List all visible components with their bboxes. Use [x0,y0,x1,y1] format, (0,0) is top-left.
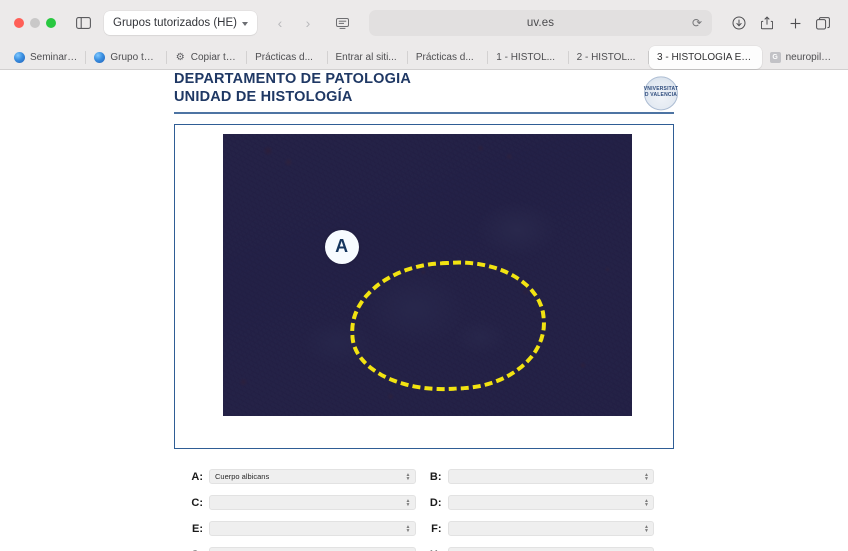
browser-tab[interactable]: ⎆ Prácticas d... [408,46,488,69]
chrome-favicon-icon [94,52,105,63]
answer-select-c[interactable]: ▲▼ [209,495,416,510]
toolbar-right-icons [726,12,838,34]
downloads-icon[interactable] [726,12,752,34]
answer-label-b: B: [429,471,442,483]
tab-label: 1 - HISTOL... [496,52,555,63]
figure-frame: A [174,124,674,449]
reader-view-icon[interactable] [329,12,355,34]
answer-label-f: F: [429,523,442,535]
answer-row-h: H: ▲▼ [429,547,655,551]
micrograph-image: A [223,134,632,416]
answer-select-a[interactable]: Cuerpo albicans ▲▼ [209,469,416,484]
tab-label: Entrar al siti... [336,52,397,63]
answer-row-c: C: ▲▼ [190,495,416,510]
browser-tab[interactable]: ⎆ Entrar al siti... [328,46,408,69]
answer-row-f: F: ▲▼ [429,521,655,536]
answer-row-d: D: ▲▼ [429,495,655,510]
stepper-icon[interactable]: ▲▼ [406,525,411,533]
answer-select-d[interactable]: ▲▼ [448,495,655,510]
university-logo: VNIVERSITAT D VALENCIA [638,72,684,112]
square-favicon-icon: G [770,52,781,63]
close-window-button[interactable] [14,18,24,28]
document-body: DEPARTAMENTO DE PATOLOGÍA UNIDAD DE HIST… [174,70,674,551]
stepper-icon[interactable]: ▲▼ [406,499,411,507]
stepper-icon[interactable]: ▲▼ [406,473,411,481]
department-title: DEPARTAMENTO DE PATOLOGÍA [174,72,674,85]
back-button[interactable]: ‹ [267,11,293,35]
chevron-down-icon [242,22,248,26]
page-content: DEPARTAMENTO DE PATOLOGÍA UNIDAD DE HIST… [0,70,848,551]
browser-tab-active[interactable]: ⎆ 3 - HISTOLOGÍA ESP... [649,46,762,69]
answers-form: A: Cuerpo albicans ▲▼ B: ▲▼ C: ▲▼ [174,469,674,551]
tab-label: neuropilo -... [786,52,834,63]
url-text: uv.es [527,17,554,29]
sidebar-toggle-icon[interactable] [70,12,96,34]
stepper-icon[interactable]: ▲▼ [644,499,649,507]
profile-group-label: Grupos tutorizados (HE) [113,17,237,29]
tab-overview-icon[interactable] [810,12,836,34]
answer-label-d: D: [429,497,442,509]
reload-icon[interactable]: ⟳ [692,17,702,29]
tab-strip: Seminarios... Grupo tutori... ⚙ Copiar t… [0,46,848,69]
forward-button[interactable]: › [295,11,321,35]
share-icon[interactable] [754,12,780,34]
browser-tab[interactable]: G neuropilo -... [762,46,842,69]
stepper-icon[interactable]: ▲▼ [644,473,649,481]
answer-select-f[interactable]: ▲▼ [448,521,655,536]
browser-tab[interactable]: Grupo tutori... [86,46,166,69]
answer-label-a: A: [190,471,203,483]
answer-select-h[interactable]: ▲▼ [448,547,655,551]
chrome-favicon-icon [14,52,25,63]
minimize-window-button[interactable] [30,18,40,28]
gear-favicon-icon: ⚙ [175,52,186,63]
tab-label: Prácticas d... [255,52,313,63]
profile-group-button[interactable]: Grupos tutorizados (HE) [104,11,257,35]
label-marker-a: A [325,230,359,264]
tab-label: Grupo tutori... [110,52,158,63]
answer-select-g[interactable]: ▲▼ [209,547,416,551]
answer-value-a: Cuerpo albicans [215,472,269,481]
browser-tab[interactable]: ⎆ Prácticas d... [247,46,327,69]
navigation-buttons[interactable]: ‹ › [267,11,321,35]
unit-title: UNIDAD DE HISTOLOGÍA [174,88,674,106]
browser-tab[interactable]: Seminarios... [6,46,86,69]
zoom-window-button[interactable] [46,18,56,28]
document-header: DEPARTAMENTO DE PATOLOGÍA UNIDAD DE HIST… [174,70,674,106]
tab-label: Seminarios... [30,52,78,63]
new-tab-button[interactable] [782,12,808,34]
answer-row-g: G: ▲▼ [190,547,416,551]
browser-chrome: Grupos tutorizados (HE) ‹ › uv.es ⟳ [0,0,848,70]
answer-row-e: E: ▲▼ [190,521,416,536]
answer-select-e[interactable]: ▲▼ [209,521,416,536]
header-divider [174,112,674,114]
tab-label: 3 - HISTOLOGÍA ESP... [657,52,754,63]
answer-label-c: C: [190,497,203,509]
browser-titlebar: Grupos tutorizados (HE) ‹ › uv.es ⟳ [0,0,848,46]
answer-select-b[interactable]: ▲▼ [448,469,655,484]
answer-label-e: E: [190,523,203,535]
browser-tab[interactable]: ⚙ Copiar texto... [167,46,247,69]
tab-label: Copiar texto... [191,52,239,63]
tab-label: Prácticas d... [416,52,474,63]
browser-tab[interactable]: ⎆ 2 - HISTOL... [569,46,649,69]
answer-row-b: B: ▲▼ [429,469,655,484]
answer-row-a: A: Cuerpo albicans ▲▼ [190,469,416,484]
address-bar[interactable]: uv.es ⟳ [369,10,712,36]
tab-label: 2 - HISTOL... [577,52,636,63]
window-controls[interactable] [10,18,62,28]
stepper-icon[interactable]: ▲▼ [644,525,649,533]
logo-line-2: D VALENCIA [644,92,679,98]
browser-tab[interactable]: ⎆ 1 - HISTOL... [488,46,568,69]
